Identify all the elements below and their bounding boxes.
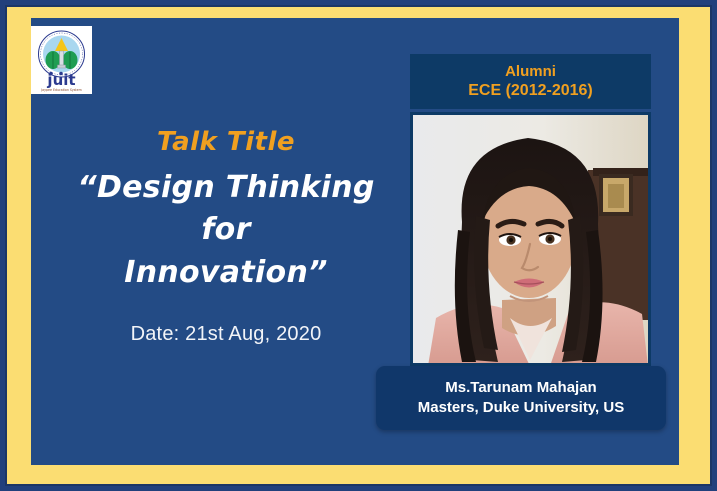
talk-text-block: Talk Title “Design Thinking for Innovati… (51, 128, 401, 294)
alumni-header-panel: Alumni ECE (2012-2016) (410, 54, 651, 109)
svg-text:juit: juit (46, 71, 75, 89)
alumni-branch-batch: ECE (2012-2016) (468, 81, 593, 101)
talk-announcement-poster: juit Jaypee Education System Talk Title … (0, 0, 717, 491)
alumni-label: Alumni (505, 62, 556, 81)
speaker-portrait-image (410, 112, 651, 366)
talk-title-label: Talk Title (51, 128, 401, 157)
talk-title-line-1: “Design Thinking for (51, 167, 401, 252)
talk-date: Date: 21st Aug, 2020 (51, 323, 401, 346)
juit-logo-icon: juit Jaypee Education System (31, 26, 92, 94)
speaker-name-plate: Ms.Tarunam Mahajan Masters, Duke Univers… (376, 366, 666, 430)
talk-title-text: “Design Thinking for Innovation” (51, 167, 401, 295)
svg-text:Jaypee Education System: Jaypee Education System (40, 88, 82, 92)
speaker-affiliation: Masters, Duke University, US (418, 398, 624, 418)
speaker-name: Ms.Tarunam Mahajan (445, 378, 596, 398)
talk-title-line-2: Innovation” (51, 252, 401, 295)
poster-stage: juit Jaypee Education System Talk Title … (31, 18, 679, 465)
juit-logo: juit Jaypee Education System (31, 26, 92, 94)
speaker-photo (410, 112, 651, 366)
